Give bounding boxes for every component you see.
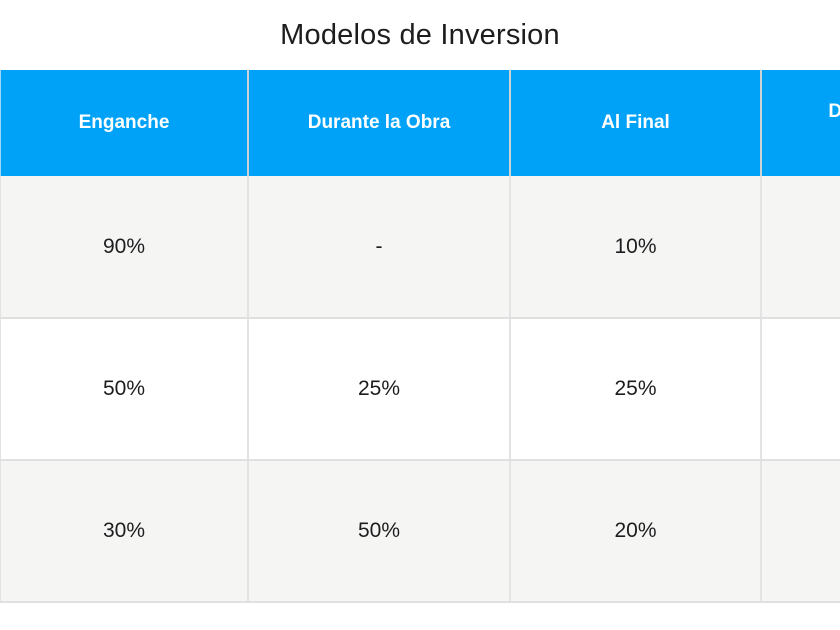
cell-durante-la-obra: - [248,176,510,318]
cell-al-final: 10% [510,176,761,318]
table-body: 90% - 10% 50% 25% 25% 30% 50% 20% [0,176,840,602]
table-header-row: Enganche Durante la Obra Al Final Descue… [0,70,840,176]
cell-enganche: 30% [0,460,248,602]
title-bar: Modelos de Inversion [0,0,840,70]
cell-al-final: 25% [510,318,761,460]
cell-durante-la-obra: 50% [248,460,510,602]
table-row: 30% 50% 20% [0,460,840,602]
cell-al-final: 20% [510,460,761,602]
cell-enganche: 90% [0,176,248,318]
column-header-al-final[interactable]: Al Final [510,70,761,176]
cell-descuento [761,460,840,602]
cell-durante-la-obra: 25% [248,318,510,460]
column-header-durante-la-obra[interactable]: Durante la Obra [248,70,510,176]
page-title: Modelos de Inversion [280,21,560,50]
cell-enganche: 50% [0,318,248,460]
table-scroll-region[interactable]: Enganche Durante la Obra Al Final Descue… [0,70,840,630]
column-header-enganche[interactable]: Enganche [0,70,248,176]
table-row: 90% - 10% [0,176,840,318]
page-root: Modelos de Inversion Enganche Durante la… [0,0,840,630]
cell-descuento [761,176,840,318]
cell-descuento [761,318,840,460]
table-header: Enganche Durante la Obra Al Final Descue… [0,70,840,176]
investment-models-table: Enganche Durante la Obra Al Final Descue… [0,70,840,603]
table-row: 50% 25% 25% [0,318,840,460]
column-header-descuento-sobre-el-precio[interactable]: Descuento sobreel Precio [761,70,840,176]
